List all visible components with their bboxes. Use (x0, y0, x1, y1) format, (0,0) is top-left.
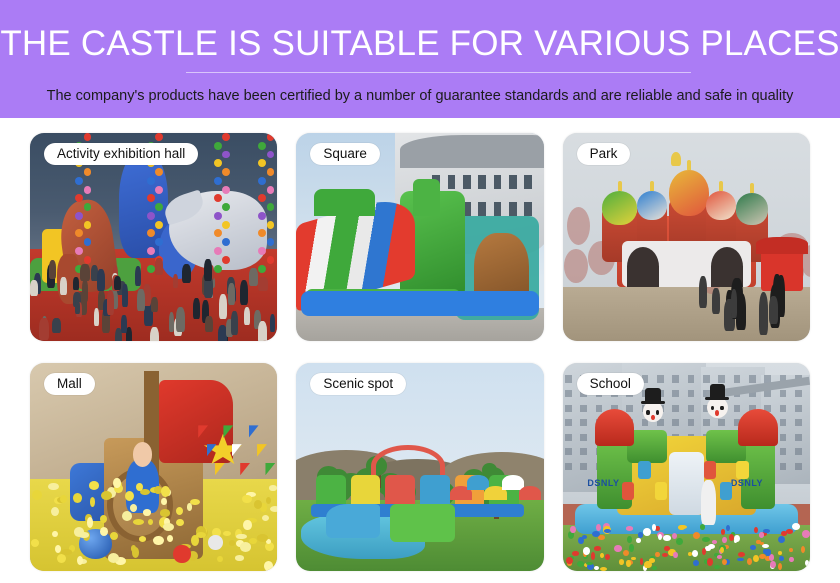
scene-element (258, 229, 266, 237)
scene-element (618, 181, 622, 191)
scene-element (596, 524, 601, 532)
scene-element (267, 168, 275, 176)
scene-element (90, 497, 95, 507)
scene-element (734, 375, 740, 382)
scene-element (258, 142, 266, 150)
scene-element (136, 483, 143, 491)
scene-element (580, 448, 586, 455)
scene-element (565, 405, 571, 412)
scene-element (720, 406, 723, 411)
scene-element (267, 238, 275, 246)
scene-element (249, 538, 257, 544)
scene-element (720, 482, 732, 501)
scene-element (703, 375, 709, 382)
scene-element (214, 212, 222, 220)
scene-element (60, 277, 67, 295)
scene-element (73, 277, 79, 290)
scene-element (780, 390, 786, 397)
scene-element (214, 142, 222, 150)
scene-element (75, 300, 80, 315)
scene-element (509, 175, 517, 190)
scene-element (240, 542, 251, 551)
scene-element (222, 203, 230, 211)
scene-element (688, 405, 694, 412)
scene-element (32, 490, 41, 500)
scene-element (75, 229, 83, 237)
scene-element (258, 212, 266, 220)
scene-element (643, 528, 651, 536)
scene-element (673, 552, 678, 559)
scene-element (580, 463, 586, 470)
scene-element (726, 525, 730, 531)
scene-element (222, 256, 230, 264)
scene-element (509, 202, 517, 217)
scene-element (780, 448, 786, 455)
scene-element (187, 503, 192, 510)
page-subtitle: The company's products have been certifi… (0, 86, 840, 106)
scene-element (49, 260, 57, 278)
scene-element (566, 557, 573, 564)
card-label-mall: Mall (44, 373, 95, 395)
scene-element (258, 265, 266, 273)
scene-element (717, 555, 723, 559)
scene-element (672, 419, 678, 426)
scene-element (656, 410, 659, 415)
scene-element (565, 419, 571, 426)
scene-element (780, 419, 786, 426)
scene-element (636, 538, 641, 543)
scene-element (258, 194, 266, 202)
scene-element (795, 448, 801, 455)
scene-element (657, 375, 663, 382)
scene-element (719, 181, 723, 191)
header-banner: THE CASTLE IS SUITABLE FOR VARIOUS PLACE… (0, 0, 840, 118)
scene-element (150, 327, 159, 341)
scene-element (267, 256, 275, 264)
scene-element (84, 186, 92, 194)
scene-element (258, 247, 266, 255)
card-label-scenic-spot: Scenic spot (310, 373, 406, 395)
scene-element (580, 419, 586, 426)
scene-element (137, 289, 145, 311)
gallery-card-mall[interactable]: Mall (30, 363, 277, 571)
scene-element (108, 553, 119, 563)
scene-element (687, 160, 691, 170)
scene-element (638, 461, 650, 480)
scene-element (565, 448, 571, 455)
scene-element (176, 507, 183, 515)
scene-element (712, 288, 720, 313)
scene-element (641, 401, 665, 404)
scene-element (736, 193, 768, 224)
scene-element (565, 434, 571, 441)
scene-element (161, 498, 166, 505)
scene-element (629, 544, 634, 552)
scene-element (84, 168, 92, 176)
scene-element (699, 276, 707, 308)
scene-element (658, 534, 662, 540)
scene-element (208, 535, 223, 550)
scene-element (734, 405, 740, 412)
scene-element (101, 491, 112, 501)
scene-element (650, 181, 654, 191)
scene-element (84, 221, 92, 229)
scene-element (147, 229, 155, 237)
scene-element (780, 405, 786, 412)
scene-element (258, 277, 268, 291)
scene-element (48, 483, 59, 490)
scene-element (652, 524, 656, 531)
scene-element (75, 247, 83, 255)
scene-element (663, 535, 670, 541)
scene-element (244, 307, 250, 325)
scene-element (704, 461, 716, 480)
scene-element (30, 280, 38, 296)
scene-element (750, 183, 754, 193)
scene-element (688, 375, 694, 382)
scene-element (214, 194, 222, 202)
gallery-card-school[interactable]: DSNLYDSNLY School (563, 363, 810, 571)
scene-element (121, 315, 126, 333)
scene-element (614, 545, 621, 552)
scene-element (267, 186, 275, 194)
card-label-activity-exhibition-hall: Activity exhibition hall (44, 143, 198, 165)
scene-element (390, 504, 454, 541)
scene-element (222, 151, 230, 159)
scene-element (738, 409, 778, 446)
scene-element (778, 551, 782, 555)
scene-element (669, 170, 709, 216)
scene-element (155, 168, 163, 176)
scene-element (153, 536, 163, 545)
scene-element (270, 506, 277, 512)
scene-element (169, 312, 174, 333)
scene-element (258, 321, 268, 341)
scene-element (626, 405, 632, 412)
scene-element (52, 318, 61, 333)
title-divider (186, 72, 691, 73)
scene-element (718, 375, 724, 382)
scene-element (249, 268, 257, 286)
scene-element (214, 247, 222, 255)
scene-element (147, 194, 155, 202)
scene-element (269, 485, 277, 490)
scene-element (258, 159, 266, 167)
scene-element (173, 274, 178, 289)
scene-element (267, 133, 275, 141)
scene-element (795, 390, 801, 397)
scene-element (147, 177, 155, 185)
scene-element (596, 405, 602, 412)
scene-element (700, 524, 706, 530)
scene-element (494, 202, 502, 217)
gallery-card-scenic-spot[interactable]: Scenic spot (296, 363, 543, 571)
scene-element (222, 133, 230, 141)
scene-element (113, 478, 120, 489)
scene-element (756, 540, 760, 545)
scene-element (270, 314, 275, 332)
scene-element (572, 551, 579, 555)
scene-element (583, 547, 590, 555)
scene-element (155, 258, 163, 275)
scene-element (82, 279, 88, 302)
scene-element (622, 482, 634, 501)
image-gallery-grid: Activity exhibition hall Square (0, 118, 840, 583)
scene-element (789, 557, 793, 562)
scene-element (135, 266, 141, 286)
scene-element (795, 463, 801, 470)
scene-element (51, 507, 59, 516)
card-label-square: Square (310, 143, 380, 165)
scene-element (160, 509, 170, 516)
scene-element (795, 405, 801, 412)
scene-element (267, 203, 275, 211)
scene-element (519, 486, 541, 501)
scene-element (87, 517, 93, 528)
scene-element (205, 316, 212, 333)
scene-element (524, 175, 532, 190)
scene-element (780, 434, 786, 441)
scene-element (228, 283, 235, 305)
scene-element (780, 463, 786, 470)
scene-element (214, 177, 222, 185)
scene-element (240, 280, 248, 305)
scene-element (264, 561, 273, 571)
scene-element (672, 390, 678, 397)
scene-element (759, 292, 769, 335)
scene-element (731, 289, 737, 318)
scene-element (759, 532, 764, 537)
scene-element (602, 191, 637, 224)
scene-element (219, 294, 227, 319)
scene-element (702, 537, 710, 542)
scene-element (565, 463, 571, 470)
scene-element (77, 556, 83, 565)
scene-element (155, 186, 163, 194)
scene-element (266, 497, 271, 504)
scene-element (655, 552, 659, 557)
gallery-card-activity-exhibition-hall[interactable]: Activity exhibition hall (30, 133, 277, 341)
scene-element (769, 296, 778, 324)
scene-element (267, 151, 275, 159)
scene-element (61, 549, 72, 554)
scene-element (97, 269, 105, 291)
scene-element (795, 434, 801, 441)
card-label-park: Park (577, 143, 631, 165)
scene-element (147, 265, 155, 273)
scene-element (223, 531, 231, 536)
scene-element (214, 229, 222, 237)
scene-element (222, 186, 230, 194)
scene-element (688, 419, 694, 426)
scene-element (114, 276, 121, 290)
scene-element (750, 545, 756, 550)
scene-element (222, 221, 230, 229)
scene-element (524, 202, 532, 217)
scene-element (155, 133, 163, 141)
scene-element (147, 247, 155, 255)
scene-element (592, 531, 600, 537)
scene-element (143, 509, 151, 515)
scene-element (75, 212, 83, 220)
scene-element (231, 311, 238, 335)
scene-element (326, 504, 380, 537)
scene-element (478, 175, 486, 190)
scene-element (155, 238, 163, 246)
scene-element (705, 397, 729, 400)
scene-element (763, 529, 770, 533)
scene-element (736, 461, 748, 480)
scene-element (173, 545, 190, 562)
scene-element (130, 504, 137, 512)
card-label-school: School (577, 373, 644, 395)
scene-element (222, 168, 230, 176)
scene-element (651, 415, 655, 420)
scene-element (89, 481, 99, 489)
scene-element (126, 327, 132, 341)
scene-element (73, 493, 82, 503)
scene-element (52, 531, 58, 538)
scene-element (214, 159, 222, 167)
scene-element (706, 191, 736, 220)
scene-element (133, 519, 144, 525)
scene-element (671, 152, 681, 167)
scene-element (701, 384, 733, 430)
scene-element (176, 307, 185, 331)
scene-element (257, 534, 268, 541)
scene-element (151, 297, 158, 312)
scene-element (161, 486, 170, 497)
scene-element (39, 318, 49, 340)
scene-element (655, 482, 667, 501)
scene-element (672, 375, 678, 382)
scene-element (182, 264, 191, 283)
scene-element (214, 265, 222, 273)
scene-element (107, 290, 114, 315)
scene-element (626, 560, 631, 567)
scene-element (580, 434, 586, 441)
scene-element (84, 256, 92, 264)
scene-element (688, 390, 694, 397)
scene-element (163, 523, 174, 531)
scene-element (637, 191, 667, 220)
scene-element (708, 544, 715, 549)
scene-element (258, 177, 266, 185)
scene-element (494, 175, 502, 190)
scene-element (565, 375, 571, 382)
scene-element (565, 390, 571, 397)
scene-element (749, 375, 755, 382)
scene-element (570, 526, 575, 533)
scene-element (578, 537, 583, 544)
scene-element (672, 405, 678, 412)
scene-element (267, 221, 275, 229)
scene-element (79, 532, 88, 537)
scene-element (147, 212, 155, 220)
scene-element (94, 308, 99, 326)
scene-element (122, 511, 132, 521)
scene-element (75, 177, 83, 185)
scene-element: DSNLY (587, 478, 619, 488)
scene-element (176, 519, 184, 526)
scene-element (155, 203, 163, 211)
scene-element (600, 567, 607, 571)
scene-element (802, 530, 810, 538)
gallery-card-square[interactable]: Square (296, 133, 543, 341)
scene-element: DSNLY (731, 478, 763, 488)
scene-element (84, 133, 92, 141)
scene-element (84, 238, 92, 246)
scene-element (235, 555, 244, 560)
scene-element (155, 221, 163, 229)
scene-element (676, 538, 683, 546)
scene-element (243, 520, 251, 530)
scene-element (605, 554, 610, 560)
scene-element (75, 194, 83, 202)
scene-element (448, 175, 456, 190)
scene-element (747, 558, 753, 565)
scene-element (122, 284, 128, 307)
scene-element (580, 405, 586, 412)
scene-element (795, 419, 801, 426)
scene-element (644, 562, 649, 568)
scene-element (193, 298, 200, 320)
scene-element (646, 410, 649, 415)
scene-element (242, 495, 252, 503)
scene-element (478, 202, 486, 217)
scene-element (463, 175, 471, 190)
scene-element (595, 409, 635, 446)
scene-element (626, 526, 633, 530)
scene-element (222, 238, 230, 246)
scene-element (84, 203, 92, 211)
page-title: THE CASTLE IS SUITABLE FOR VARIOUS PLACE… (0, 24, 840, 64)
gallery-card-park[interactable]: Park (563, 133, 810, 341)
scene-element (649, 558, 656, 563)
scene-element (204, 259, 212, 282)
scene-element (637, 388, 669, 434)
